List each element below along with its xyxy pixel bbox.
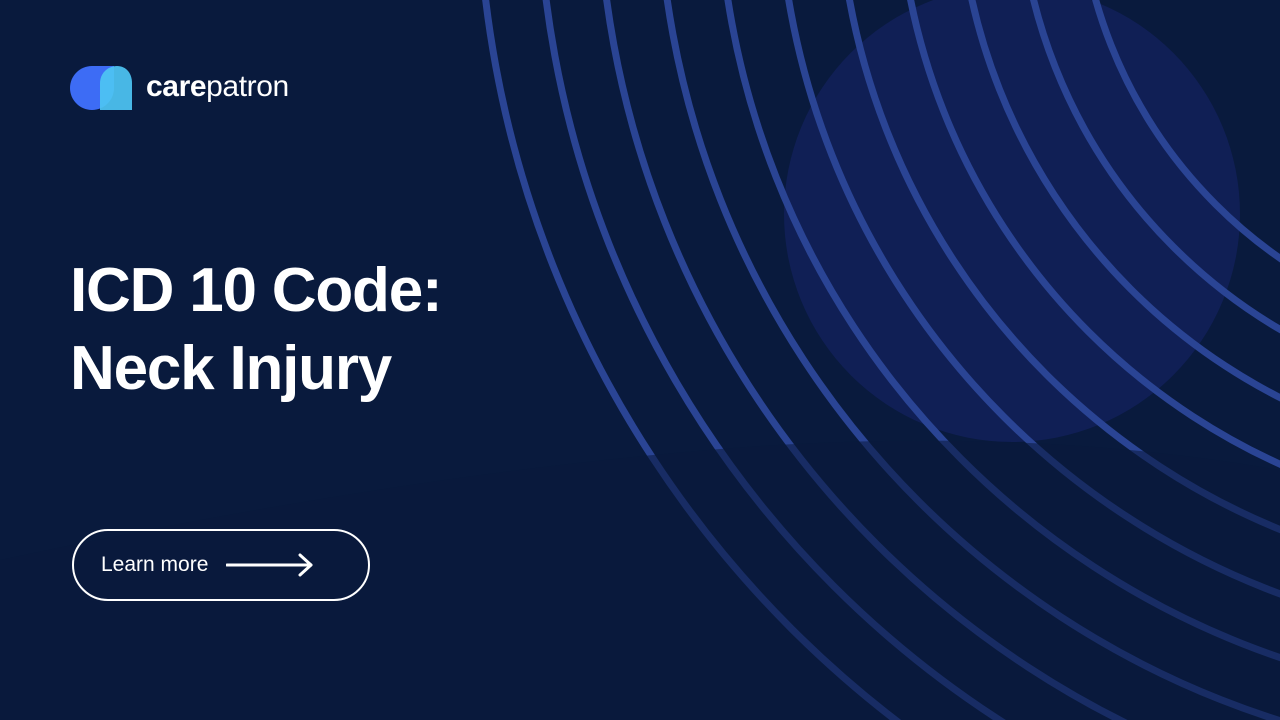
brand-wordmark: carepatron: [146, 72, 289, 104]
decor-circle: [784, 0, 1240, 442]
arrow-right-icon: [226, 553, 316, 577]
page-title: ICD 10 Code: Neck Injury: [70, 252, 710, 408]
hero-banner: carepatron ICD 10 Code: Neck Injury Lear…: [0, 0, 1280, 720]
page-title-line-1: ICD 10 Code:: [70, 252, 710, 330]
page-title-line-2: Neck Injury: [70, 330, 710, 408]
learn-more-button[interactable]: Learn more: [72, 529, 370, 601]
logo-shape-cyan: [100, 66, 132, 110]
brand-logo[interactable]: carepatron: [70, 62, 289, 114]
learn-more-button-label: Learn more: [101, 553, 208, 577]
brand-name-bold: care: [146, 70, 206, 103]
brand-name-light: patron: [206, 70, 289, 103]
carepatron-droplet-logo-icon: [70, 66, 132, 110]
